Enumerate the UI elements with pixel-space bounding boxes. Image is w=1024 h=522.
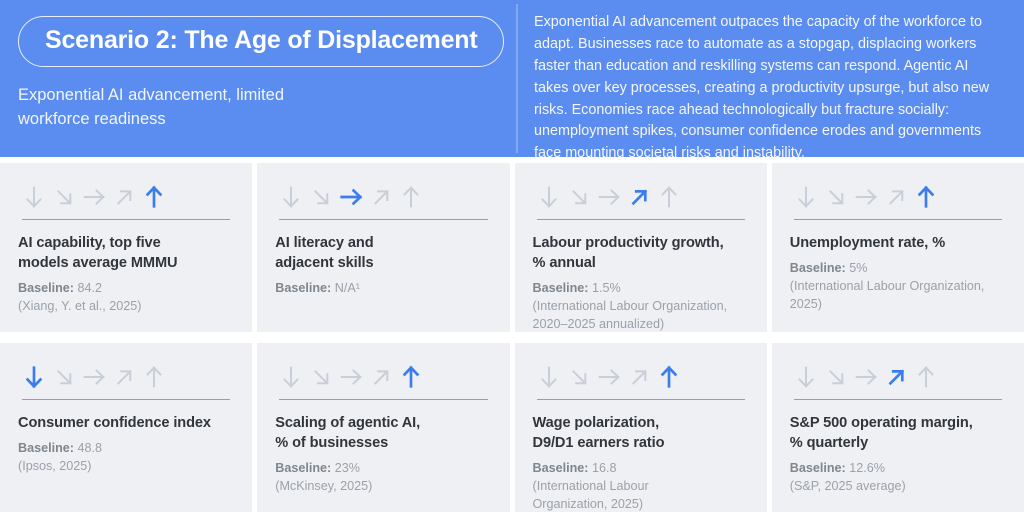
indicator-card-grid: AI capability, top five models average M…	[0, 157, 1024, 512]
baseline-label: Baseline:	[18, 281, 74, 295]
arrow-up-right-icon	[625, 363, 653, 391]
arrow-right-icon	[337, 183, 365, 211]
arrow-down-right-icon	[50, 363, 78, 391]
baseline-label: Baseline:	[18, 441, 74, 455]
baseline-value: 1.5%	[592, 281, 621, 295]
indicator-baseline: Baseline: 48.8	[18, 440, 234, 458]
indicator-source: (International Labour Organization, 2025…	[533, 478, 749, 512]
indicator-title: AI capability, top five models average M…	[18, 233, 234, 273]
scenario-description: Exponential AI advancement outpaces the …	[534, 12, 1002, 165]
arrow-down-right-icon	[822, 183, 850, 211]
arrow-right-icon	[595, 363, 623, 391]
arrow-down-right-icon	[307, 183, 335, 211]
baseline-label: Baseline:	[533, 281, 589, 295]
indicator-source: (International Labour Organization, 2020…	[533, 298, 749, 332]
arrow-up-right-icon	[110, 183, 138, 211]
trend-arrow-scale	[533, 181, 749, 211]
scenario-title-pill: Scenario 2: The Age of Displacement	[18, 16, 504, 67]
trend-arrow-scale	[533, 361, 749, 391]
arrow-up-icon	[397, 183, 425, 211]
indicator-title: AI literacy and adjacent skills	[275, 233, 491, 273]
arrow-down-icon	[535, 363, 563, 391]
card-divider	[537, 399, 745, 400]
trend-arrow-scale	[790, 361, 1006, 391]
indicator-card: S&P 500 operating margin, % quarterlyBas…	[772, 343, 1024, 512]
arrow-down-icon	[277, 183, 305, 211]
baseline-value: 23%	[335, 461, 360, 475]
indicator-baseline: Baseline: 23%	[275, 460, 491, 478]
indicator-baseline: Baseline: 12.6%	[790, 460, 1006, 478]
card-divider	[22, 219, 230, 220]
arrow-up-right-icon	[110, 363, 138, 391]
indicator-baseline: Baseline: 1.5%	[533, 280, 749, 298]
arrow-down-right-icon	[822, 363, 850, 391]
arrow-down-icon	[20, 363, 48, 391]
baseline-label: Baseline:	[790, 261, 846, 275]
arrow-down-icon	[535, 183, 563, 211]
trend-arrow-scale	[790, 181, 1006, 211]
card-divider	[537, 219, 745, 220]
indicator-card: Labour productivity growth, % annualBase…	[515, 163, 767, 332]
indicator-card: AI capability, top five models average M…	[0, 163, 252, 332]
scenario-header: Scenario 2: The Age of Displacement Expo…	[0, 0, 1024, 157]
arrow-up-right-icon	[367, 183, 395, 211]
baseline-value: 84.2	[78, 281, 103, 295]
arrow-right-icon	[80, 183, 108, 211]
indicator-baseline: Baseline: 84.2	[18, 280, 234, 298]
baseline-value: 48.8	[78, 441, 103, 455]
arrow-up-icon	[397, 363, 425, 391]
indicator-baseline: Baseline: N/A¹	[275, 280, 491, 298]
indicator-title: Wage polarization, D9/D1 earners ratio	[533, 413, 749, 453]
baseline-value: N/A¹	[335, 281, 360, 295]
arrow-down-icon	[20, 183, 48, 211]
card-divider	[22, 399, 230, 400]
card-divider	[794, 399, 1002, 400]
indicator-card: Consumer confidence indexBaseline: 48.8(…	[0, 343, 252, 512]
arrow-right-icon	[80, 363, 108, 391]
trend-arrow-scale	[275, 361, 491, 391]
indicator-baseline: Baseline: 5%	[790, 260, 1006, 278]
arrow-right-icon	[337, 363, 365, 391]
scenario-header-right: Exponential AI advancement outpaces the …	[518, 0, 1024, 157]
indicator-title: S&P 500 operating margin, % quarterly	[790, 413, 1006, 453]
arrow-down-right-icon	[565, 363, 593, 391]
trend-arrow-scale	[275, 181, 491, 211]
arrow-up-right-icon	[625, 183, 653, 211]
arrow-right-icon	[595, 183, 623, 211]
card-divider	[279, 219, 487, 220]
indicator-card: Wage polarization, D9/D1 earners ratioBa…	[515, 343, 767, 512]
arrow-down-icon	[792, 363, 820, 391]
arrow-down-icon	[792, 183, 820, 211]
arrow-up-icon	[140, 363, 168, 391]
arrow-up-right-icon	[882, 363, 910, 391]
arrow-up-icon	[912, 183, 940, 211]
scenario-header-left: Scenario 2: The Age of Displacement Expo…	[0, 0, 516, 157]
baseline-value: 5%	[849, 261, 867, 275]
indicator-source: (Ipsos, 2025)	[18, 458, 234, 476]
arrow-down-right-icon	[307, 363, 335, 391]
indicator-card: Unemployment rate, %Baseline: 5%(Interna…	[772, 163, 1024, 332]
arrow-down-right-icon	[565, 183, 593, 211]
arrow-up-icon	[655, 363, 683, 391]
arrow-right-icon	[852, 183, 880, 211]
arrow-right-icon	[852, 363, 880, 391]
indicator-card: AI literacy and adjacent skillsBaseline:…	[257, 163, 509, 332]
scenario-subtitle: Exponential AI advancement, limited work…	[18, 83, 348, 132]
trend-arrow-scale	[18, 181, 234, 211]
baseline-value: 16.8	[592, 461, 617, 475]
indicator-baseline: Baseline: 16.8	[533, 460, 749, 478]
card-divider	[279, 399, 487, 400]
indicator-title: Consumer confidence index	[18, 413, 234, 433]
arrow-down-icon	[277, 363, 305, 391]
baseline-label: Baseline:	[275, 461, 331, 475]
indicator-source: (International Labour Organization, 2025…	[790, 278, 1006, 314]
baseline-label: Baseline:	[275, 281, 331, 295]
indicator-title: Unemployment rate, %	[790, 233, 1006, 253]
trend-arrow-scale	[18, 361, 234, 391]
arrow-down-right-icon	[50, 183, 78, 211]
indicator-card: Scaling of agentic AI, % of businessesBa…	[257, 343, 509, 512]
arrow-up-icon	[912, 363, 940, 391]
arrow-up-icon	[140, 183, 168, 211]
card-divider	[794, 219, 1002, 220]
arrow-up-icon	[655, 183, 683, 211]
arrow-up-right-icon	[367, 363, 395, 391]
arrow-up-right-icon	[882, 183, 910, 211]
indicator-title: Labour productivity growth, % annual	[533, 233, 749, 273]
indicator-title: Scaling of agentic AI, % of businesses	[275, 413, 491, 453]
indicator-source: (McKinsey, 2025)	[275, 478, 491, 496]
baseline-label: Baseline:	[533, 461, 589, 475]
baseline-value: 12.6%	[849, 461, 885, 475]
indicator-source: (S&P, 2025 average)	[790, 478, 1006, 496]
baseline-label: Baseline:	[790, 461, 846, 475]
indicator-source: (Xiang, Y. et al., 2025)	[18, 298, 234, 316]
